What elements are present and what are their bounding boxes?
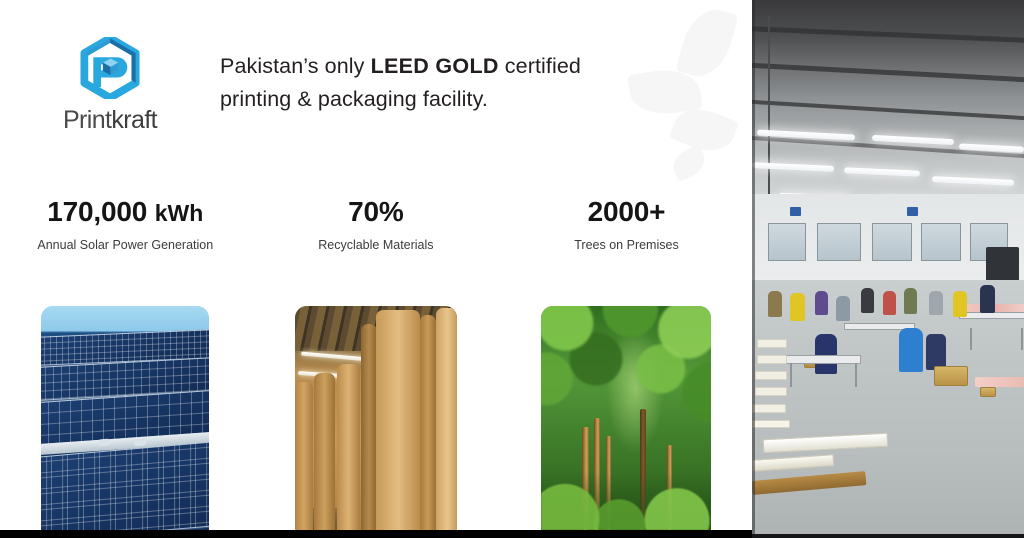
slide-stage: Printkraft Pakistan’s only LEED GOLD cer… (0, 0, 1024, 538)
headline-emphasis: LEED GOLD (371, 54, 499, 78)
stat-number: 70% (348, 196, 403, 227)
factory-worker (768, 291, 782, 317)
partition-window (768, 223, 806, 261)
stat-value: 70% (348, 196, 403, 228)
factory-worker (861, 288, 874, 313)
wall-sign (790, 207, 801, 216)
factory-worker (790, 293, 805, 321)
forest-canopy (541, 306, 711, 458)
stat-unit: kWh (155, 200, 204, 226)
headline-after: certified (499, 54, 581, 78)
factory-worker (980, 285, 995, 313)
cardboard-box (934, 366, 968, 386)
factory-worker (836, 296, 850, 321)
panel-clamp (134, 439, 146, 447)
brand-logo-block: Printkraft (0, 31, 220, 135)
stat-label: Trees on Premises (574, 238, 678, 254)
paper-board-stack (752, 404, 786, 413)
sky-strip (41, 306, 209, 331)
table-leg (855, 363, 857, 387)
factory-floor-workers-video-still (752, 0, 1024, 538)
partition-window (817, 223, 861, 261)
stat-number: 2000+ (588, 196, 666, 227)
stat-label: Recyclable Materials (318, 238, 433, 254)
slide-letterbox-bar (0, 530, 752, 538)
brand-wordmark: Printkraft (63, 106, 157, 135)
partition-window (872, 223, 913, 261)
factory-worker (953, 291, 967, 317)
presentation-slide: Printkraft Pakistan’s only LEED GOLD cer… (0, 0, 752, 530)
factory-worker (815, 334, 837, 374)
factory-worker (904, 288, 917, 314)
stat-item-solar: 170,000 kWh Annual Solar Power Generatio… (0, 196, 251, 254)
factory-worker (929, 291, 943, 315)
paper-roll (420, 315, 436, 530)
forest-trees-photo (541, 306, 711, 530)
stat-item-trees: 2000+ Trees on Premises (501, 196, 752, 254)
stat-number: 170,000 (47, 196, 147, 227)
forest-understory (541, 472, 711, 530)
stat-value: 170,000 kWh (47, 196, 203, 228)
slide-header: Printkraft Pakistan’s only LEED GOLD cer… (0, 0, 752, 166)
paper-roll (436, 308, 457, 530)
brand-wordmark-kraft: kraft (111, 106, 157, 134)
stat-images-row (0, 306, 752, 530)
card-slot-recyclable (251, 306, 502, 530)
paper-board-stack (755, 371, 787, 380)
kraft-paper-rolls-photo (295, 306, 457, 530)
paper-roll (337, 364, 360, 530)
partition-window (921, 223, 962, 261)
stat-value: 2000+ (588, 196, 666, 228)
factory-worker (899, 328, 923, 372)
solar-panel-row (41, 440, 209, 530)
table-leg (1021, 328, 1023, 350)
stat-label: Annual Solar Power Generation (37, 238, 213, 254)
factory-worker (815, 291, 828, 315)
wall-sign (907, 207, 918, 216)
headline-before: Pakistan’s only (220, 54, 371, 78)
cardboard-box (980, 387, 996, 397)
brand-wordmark-print: Print (63, 106, 111, 134)
stat-item-recyclable: 70% Recyclable Materials (251, 196, 502, 254)
factory-worker (883, 291, 896, 315)
photo-letterbox-bar (752, 534, 1024, 538)
paper-roll (295, 382, 313, 530)
slide-headline: Pakistan’s only LEED GOLD certified prin… (220, 50, 752, 115)
factory-worker (926, 334, 946, 370)
card-slot-trees (501, 306, 752, 530)
printkraft-hex-cube-logo-icon (80, 37, 140, 99)
printed-sheets-stack (975, 377, 1024, 387)
paper-roll (376, 310, 420, 530)
photo-left-edge (752, 0, 755, 538)
paper-board-stack (757, 339, 787, 348)
headline-line2: printing & packaging facility. (220, 87, 488, 111)
card-slot-solar (0, 306, 251, 530)
paper-roll (314, 373, 335, 530)
work-table (959, 312, 1024, 319)
solar-panel-array-photo (41, 306, 209, 530)
paper-board-stack (757, 355, 787, 364)
table-leg (970, 328, 972, 350)
paper-board-stack (755, 387, 787, 396)
paper-board-stack (752, 420, 790, 428)
table-leg (790, 363, 792, 387)
stats-row: 170,000 kWh Annual Solar Power Generatio… (0, 196, 752, 254)
